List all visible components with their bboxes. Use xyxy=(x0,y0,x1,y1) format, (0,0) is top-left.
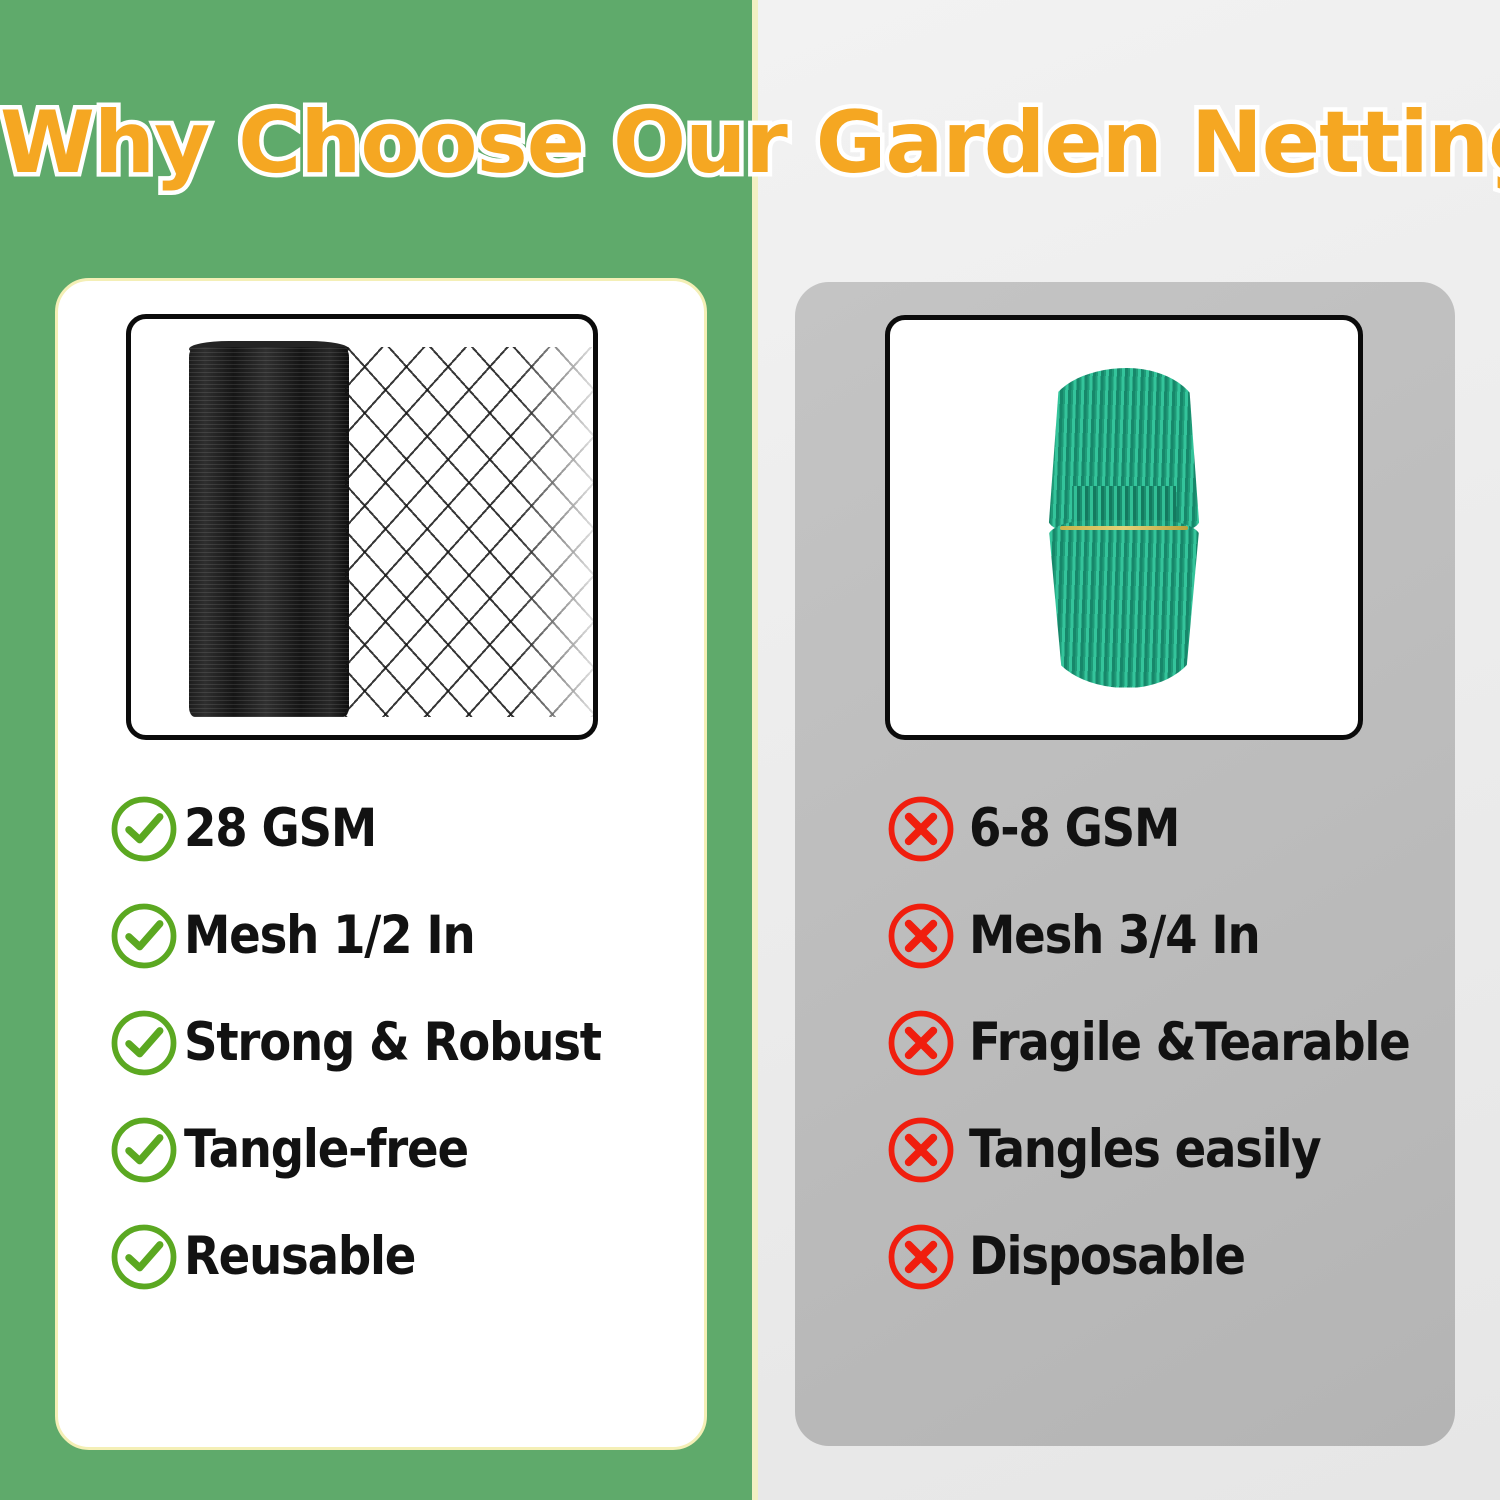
feature-label: Tangle-free xyxy=(184,1119,468,1180)
check-circle-icon xyxy=(108,900,180,972)
list-item: Mesh 3/4 In xyxy=(885,882,1455,989)
list-item: Disposable xyxy=(885,1203,1455,1310)
mesh-fade-overlay xyxy=(345,347,593,717)
yellow-tie-string xyxy=(1060,526,1188,530)
list-item: Fragile &Tearable xyxy=(885,989,1455,1096)
list-item: Mesh 1/2 In xyxy=(108,882,708,989)
feature-label: Fragile &Tearable xyxy=(969,1012,1410,1073)
feature-label: Tangles easily xyxy=(969,1119,1320,1180)
feature-label: Mesh 3/4 In xyxy=(969,905,1259,966)
check-circle-icon xyxy=(108,1114,180,1186)
panel-divider xyxy=(752,0,758,1500)
feature-label: Reusable xyxy=(184,1226,415,1287)
other-product-image-frame xyxy=(885,315,1363,740)
list-item: 28 GSM xyxy=(108,775,708,882)
cross-circle-icon xyxy=(885,793,957,865)
list-item: Strong & Robust xyxy=(108,989,708,1096)
black-netting-roll xyxy=(189,347,349,717)
feature-label: Mesh 1/2 In xyxy=(184,905,474,966)
infographic-canvas: Why Choose Our Garden Netting? 28 GSM Me… xyxy=(0,0,1500,1500)
our-feature-list: 28 GSM Mesh 1/2 In Strong & Robust Tangl… xyxy=(108,775,708,1310)
cross-circle-icon xyxy=(885,1114,957,1186)
our-product-image-frame xyxy=(126,314,598,740)
bundle-bottom-half xyxy=(1048,520,1200,688)
check-circle-icon xyxy=(108,1007,180,1079)
list-item: Tangle-free xyxy=(108,1096,708,1203)
page-title: Why Choose Our Garden Netting? xyxy=(0,98,1500,188)
check-circle-icon xyxy=(108,793,180,865)
feature-label: Disposable xyxy=(969,1226,1245,1287)
check-circle-icon xyxy=(108,1221,180,1293)
list-item: 6-8 GSM xyxy=(885,775,1455,882)
feature-label: Strong & Robust xyxy=(184,1012,601,1073)
list-item: Reusable xyxy=(108,1203,708,1310)
cross-circle-icon xyxy=(885,1007,957,1079)
cross-circle-icon xyxy=(885,900,957,972)
list-item: Tangles easily xyxy=(885,1096,1455,1203)
other-feature-list: 6-8 GSM Mesh 3/4 In Fragile &Tearable Ta… xyxy=(885,775,1455,1310)
feature-label: 6-8 GSM xyxy=(969,798,1179,859)
green-netting-bundle xyxy=(1048,368,1200,688)
cross-circle-icon xyxy=(885,1221,957,1293)
feature-label: 28 GSM xyxy=(184,798,376,859)
